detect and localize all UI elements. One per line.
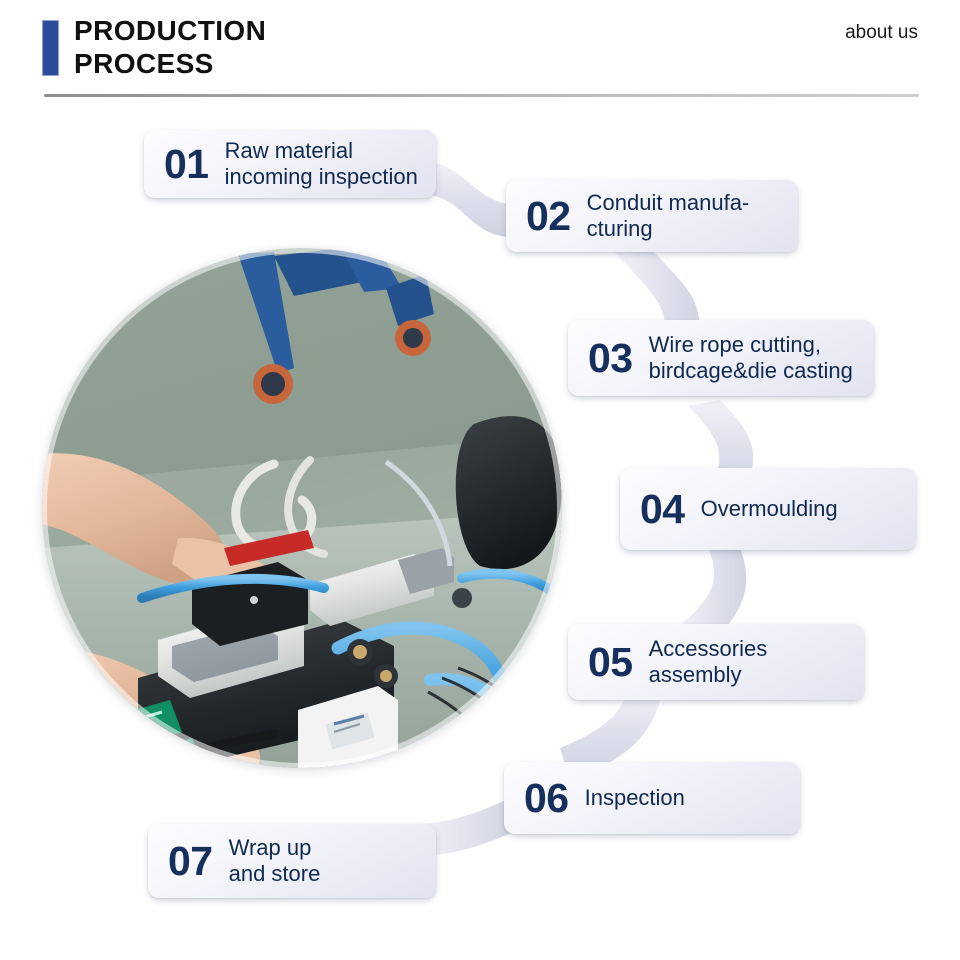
step-card-02[interactable]: 02 Conduit manufa- cturing [506, 180, 798, 252]
step-label-03: Wire rope cutting, birdcage&die casting [649, 332, 858, 384]
step-number-01: 01 [164, 144, 209, 185]
step-label-01: Raw material incoming inspection [225, 138, 420, 190]
step-label-02: Conduit manufa- cturing [587, 190, 782, 242]
page-title-line1: PRODUCTION [74, 14, 266, 47]
step-number-03: 03 [588, 338, 633, 379]
step-label-05: Accessories assembly [649, 636, 848, 688]
step-card-01[interactable]: 01 Raw material incoming inspection [144, 130, 436, 198]
step-number-02: 02 [526, 196, 571, 237]
page-title: PRODUCTION PROCESS [74, 14, 266, 80]
step-label-06: Inspection [585, 785, 784, 811]
production-process-infographic: PRODUCTION PROCESS about us [0, 0, 960, 960]
header: PRODUCTION PROCESS about us [0, 0, 960, 104]
step-card-07[interactable]: 07 Wrap up and store [148, 824, 436, 898]
step-number-04: 04 [640, 489, 685, 530]
step-card-04[interactable]: 04 Overmoulding [620, 468, 916, 550]
step-card-03[interactable]: 03 Wire rope cutting, birdcage&die casti… [568, 320, 874, 396]
step-number-05: 05 [588, 642, 633, 683]
step-label-07: Wrap up and store [229, 835, 420, 887]
production-photo-image [42, 248, 562, 768]
step-card-06[interactable]: 06 Inspection [504, 762, 800, 834]
header-divider [44, 94, 919, 97]
step-number-07: 07 [168, 841, 213, 882]
about-us-link[interactable]: about us [845, 22, 918, 44]
step-card-05[interactable]: 05 Accessories assembly [568, 624, 864, 700]
step-number-06: 06 [524, 778, 569, 819]
header-accent-bar [42, 20, 59, 76]
production-photo [42, 248, 562, 768]
step-label-04: Overmoulding [701, 496, 900, 522]
page-title-line2: PROCESS [74, 47, 266, 80]
